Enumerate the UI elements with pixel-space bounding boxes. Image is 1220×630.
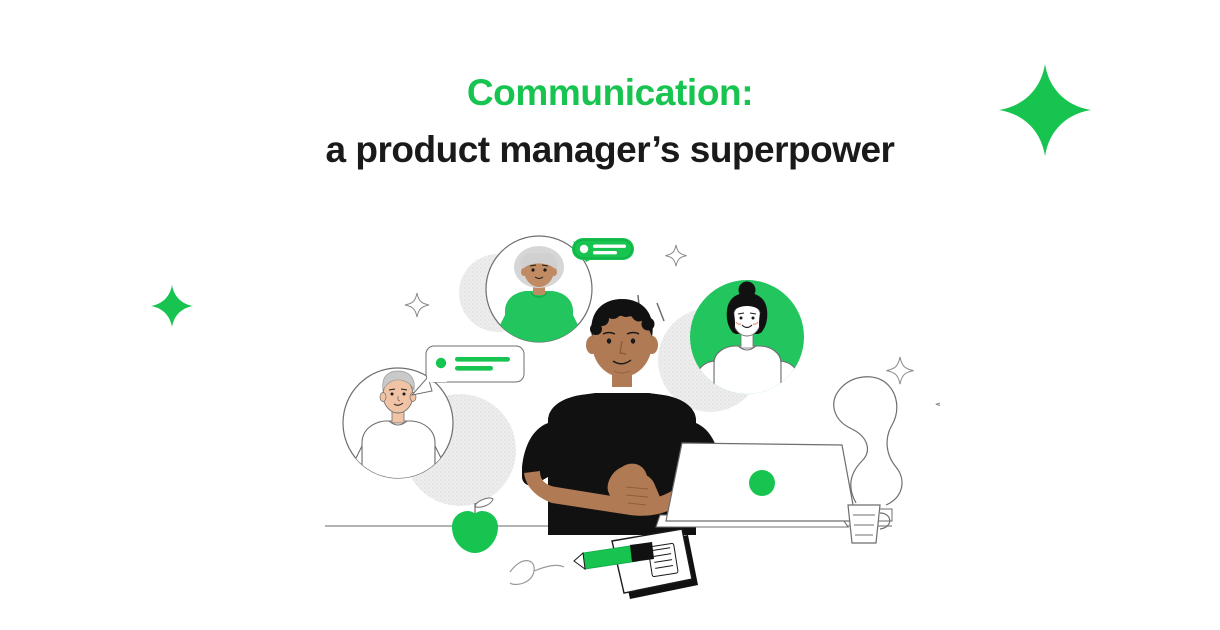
outline-sparkle-mug-lower	[936, 395, 940, 413]
decorative-squiggle	[510, 561, 564, 585]
laptop-logo-icon	[749, 470, 775, 496]
team-communication-illustration	[300, 215, 940, 615]
four-point-star-small-icon	[150, 284, 194, 328]
four-point-star-large-icon	[997, 62, 1093, 158]
outline-sparkle-top-right	[665, 245, 686, 266]
speech-bubble-white	[412, 346, 524, 395]
notebook	[612, 529, 698, 599]
bubble-dot	[580, 245, 588, 253]
outline-sparkle-left	[405, 293, 429, 317]
bubble-dot	[436, 358, 446, 368]
green-apple	[452, 498, 498, 553]
page-canvas: Communication: a product manager’s super…	[0, 0, 1220, 630]
outline-sparkle-mug-upper	[886, 357, 913, 384]
speech-bubble-green	[572, 238, 634, 262]
